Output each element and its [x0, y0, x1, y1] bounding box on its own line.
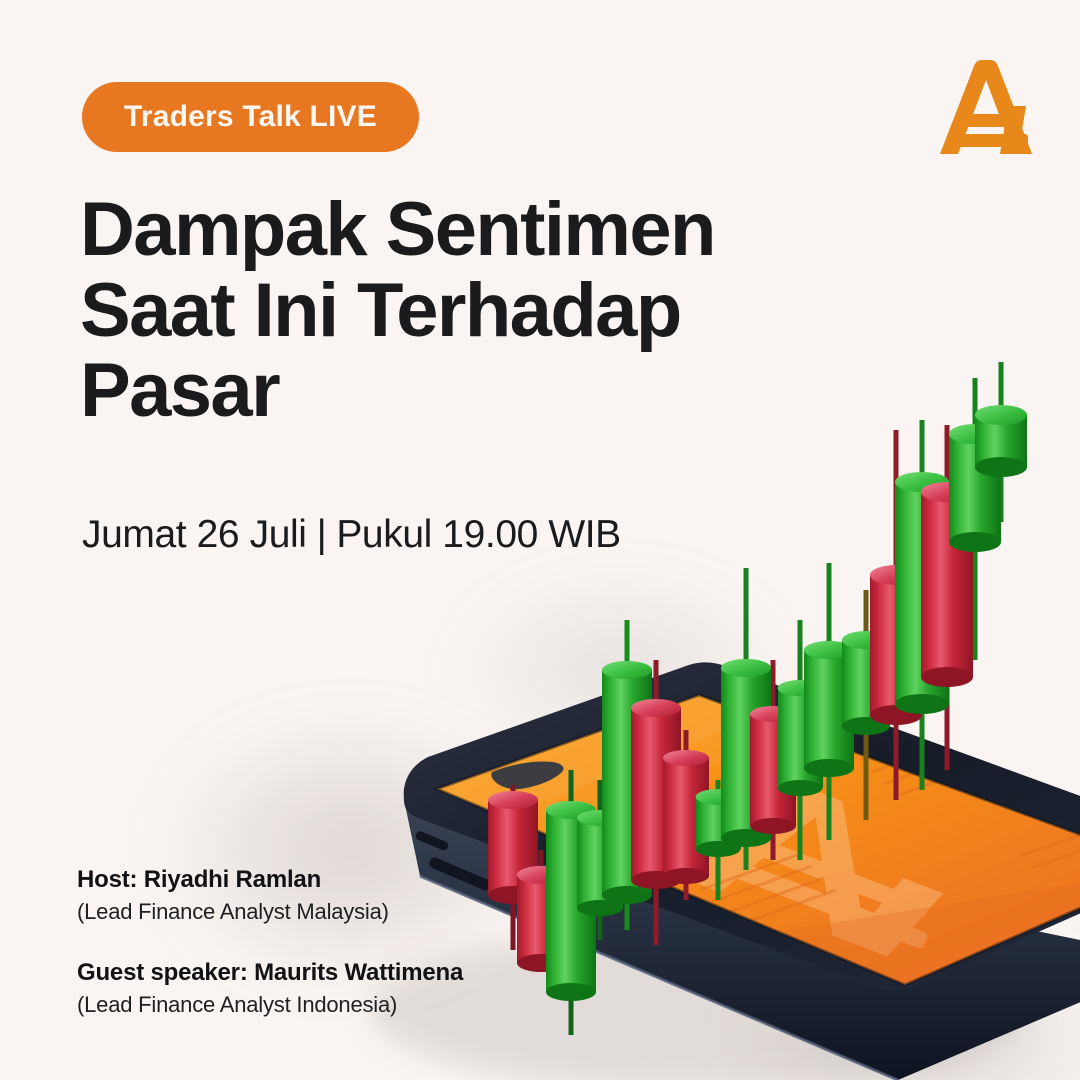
candle-bullish [949, 424, 1001, 552]
page-title: Dampak Sentimen Saat Ini Terhadap Pasar [80, 190, 800, 432]
credit-guest: Guest speaker: Maurits Wattimena (Lead F… [77, 959, 597, 1018]
credit-guest-name: Guest speaker: Maurits Wattimena [77, 959, 597, 987]
headline-line-3: Pasar [80, 351, 800, 432]
credit-host-name: Host: Riyadhi Ramlan [77, 866, 597, 894]
candle-bullish [804, 641, 854, 777]
ascend-a-logo-icon [940, 60, 1032, 154]
candle-bullish [696, 789, 742, 857]
candle-bullish [778, 680, 824, 796]
schedule-separator: | [317, 513, 327, 556]
headline-line-2: Saat Ini Terhadap [80, 271, 800, 352]
ambient-shadow-mid [440, 560, 800, 780]
credit-host-role: (Lead Finance Analyst Malaysia) [77, 899, 597, 925]
candle-bullish [895, 472, 949, 714]
candle-bullish [721, 659, 771, 847]
schedule-date: Jumat 26 Juli [82, 513, 307, 556]
ambient-shadow-right [720, 920, 1080, 1080]
brand-logo [934, 58, 1038, 160]
candle-bearish [870, 565, 922, 725]
screen-watermark-logo-icon [685, 760, 965, 967]
live-badge: Traders Talk LIVE [82, 82, 419, 152]
candle-bearish [663, 750, 709, 884]
candle-bullish [975, 405, 1027, 477]
candle-bearish [631, 699, 681, 889]
candle-bearish [750, 706, 796, 834]
credit-guest-role: (Lead Finance Analyst Indonesia) [77, 992, 597, 1018]
poster-canvas: Traders Talk LIVE Dampak Sentimen Saat I… [0, 0, 1080, 1080]
credit-host: Host: Riyadhi Ramlan (Lead Finance Analy… [77, 866, 597, 925]
candle-bullish [602, 661, 652, 904]
credits-list: Host: Riyadhi Ramlan (Lead Finance Analy… [77, 866, 597, 1018]
headline-line-1: Dampak Sentimen [80, 190, 800, 271]
schedule-line: Jumat 26 Juli|Pukul 19.00 WIB [82, 513, 621, 557]
live-badge-label: Traders Talk LIVE [124, 100, 377, 134]
candle-bearish [921, 482, 973, 687]
schedule-time: Pukul 19.00 WIB [336, 513, 620, 556]
candle-bullish [842, 631, 890, 735]
